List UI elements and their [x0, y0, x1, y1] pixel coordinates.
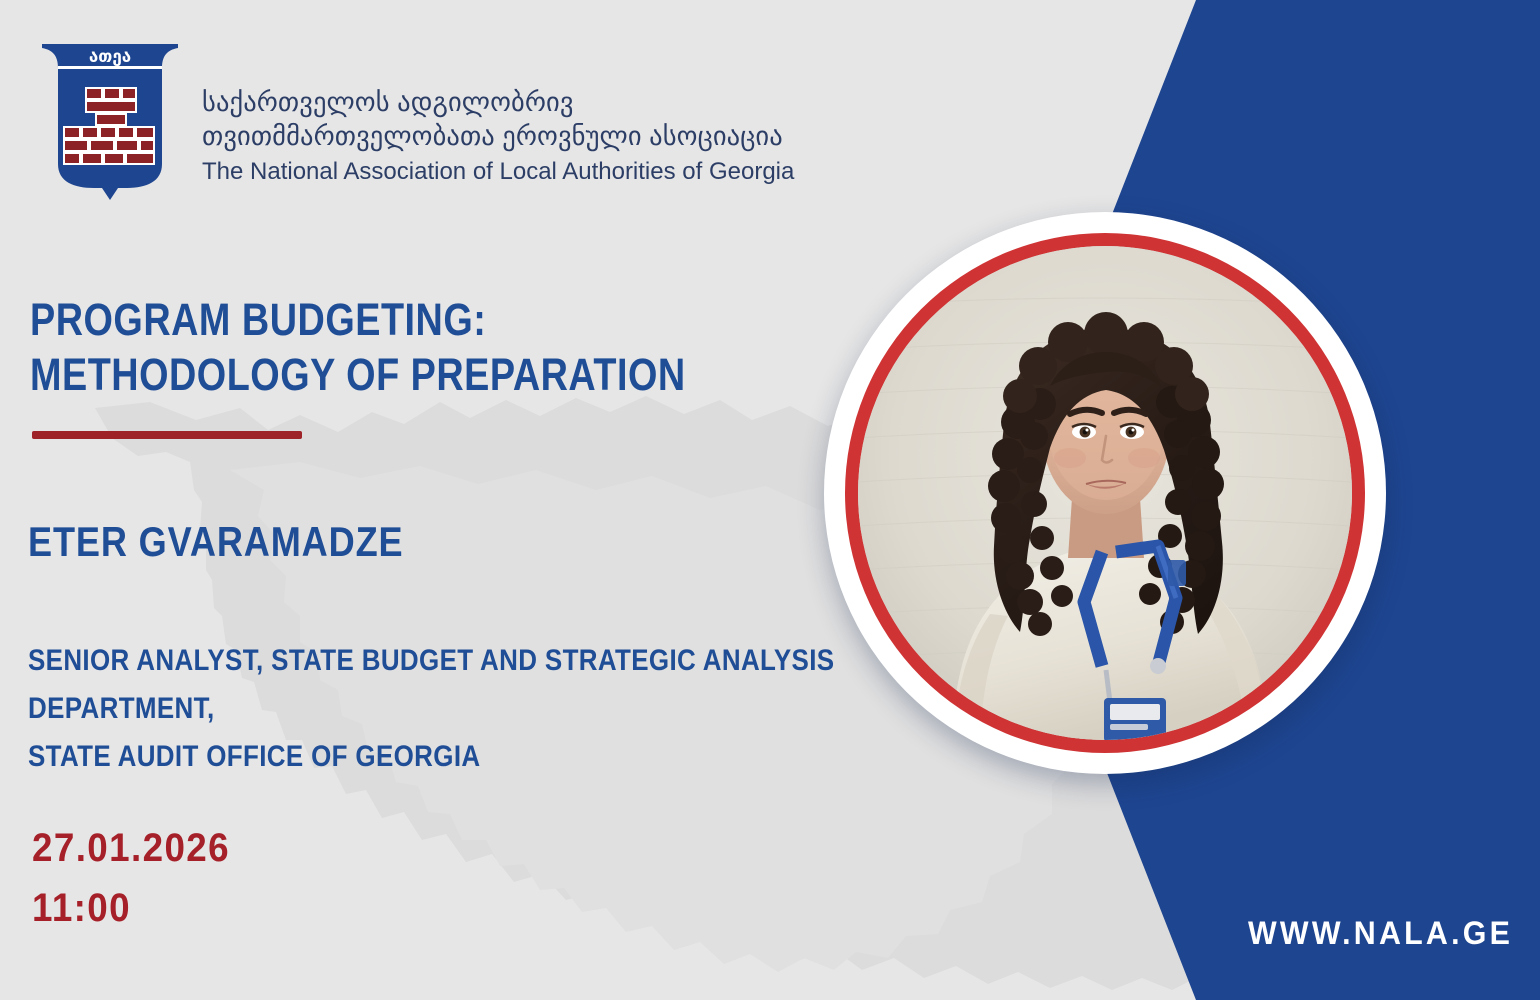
nala-shield-emblem-icon: ათეა — [34, 36, 186, 202]
speaker-photo — [858, 246, 1352, 740]
org-name-georgian-line1: საქართველოს ადგილობრივ — [202, 86, 794, 119]
speaker-portrait-frame — [824, 212, 1386, 774]
event-date: 27.01.2026 — [32, 826, 230, 871]
speaker-name: ETER GVARAMADZE — [28, 518, 403, 566]
speaker-role: SENIOR ANALYST, STATE BUDGET AND STRATEG… — [28, 637, 917, 780]
organization-logo-lockup: ათეა საქართველოს ადგილობრივ თვითმმართველ… — [34, 36, 794, 202]
org-name-english: The National Association of Local Author… — [202, 153, 794, 187]
title-underline-rule — [32, 431, 302, 439]
event-title: PROGRAM BUDGETING: METHODOLOGY OF PREPAR… — [30, 292, 736, 403]
speaker-role-line2: STATE AUDIT OFFICE OF GEORGIA — [28, 733, 917, 781]
website-url[interactable]: WWW.NALA.GE — [1248, 915, 1513, 952]
speaker-role-line1: SENIOR ANALYST, STATE BUDGET AND STRATEG… — [28, 637, 917, 733]
event-time: 11:00 — [32, 886, 131, 931]
event-announcement-poster: ათეა საქართველოს ადგილობრივ თვითმმართველ… — [0, 0, 1540, 1000]
emblem-motto-text: ათეა — [89, 47, 131, 67]
org-name-georgian-line2: თვითმმართველობათა ეროვნული ასოციაცია — [202, 120, 794, 153]
